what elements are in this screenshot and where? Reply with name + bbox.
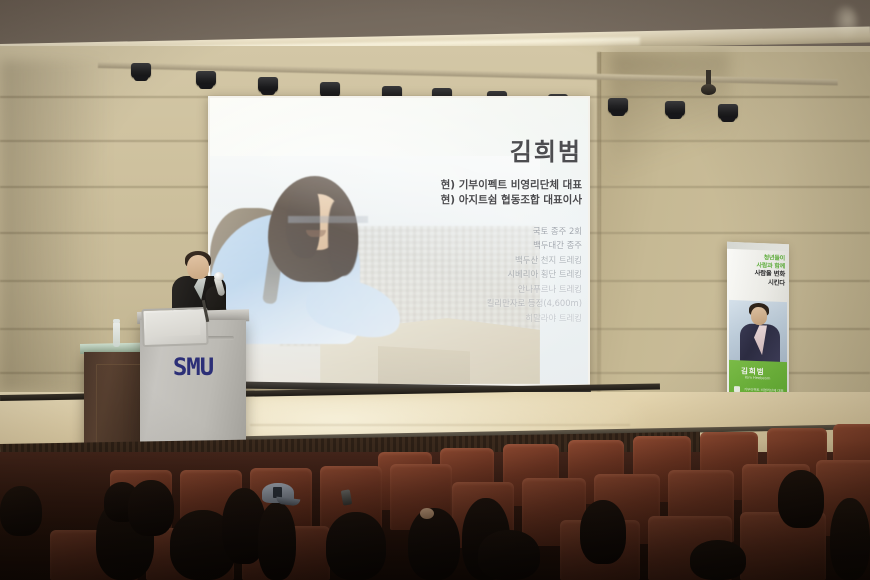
slide-achievement: 시베리아 횡단 트레킹 — [386, 267, 582, 281]
microphone-head-icon — [214, 272, 224, 281]
stage-light-icon — [131, 63, 151, 78]
water-bottle[interactable] — [113, 322, 120, 347]
wall-corner — [597, 52, 601, 397]
slide-achievement: 국토 종주 2회 — [386, 224, 582, 238]
stage-light-icon — [665, 101, 685, 116]
lectern-logo: SMU — [140, 353, 246, 381]
presenter-head — [187, 255, 209, 279]
banner-portrait — [729, 300, 787, 364]
slide-achievement-list: 국토 종주 2회 백두대간 종주 백두산 천지 트레킹 시베리아 횡단 트레킹 … — [386, 224, 582, 325]
stage-light-icon — [608, 98, 628, 113]
banner-portrait-face — [751, 307, 767, 326]
slide-achievement: 백두대간 종주 — [386, 238, 582, 252]
house-shadow-overlay — [0, 440, 870, 580]
water-bottle-cap — [113, 319, 120, 323]
slide-achievement: 히말라야 트레킹 — [386, 311, 582, 325]
slide-achievement: 백두산 천지 트레킹 — [386, 253, 582, 267]
stage-light-icon — [258, 77, 278, 92]
slide-roles: 현) 기부이펙트 비영리단체 대표 현) 아지트쉼 협동조합 대표이사 — [386, 178, 582, 208]
ceiling-highlight — [832, 6, 858, 40]
slide-role-line: 현) 아지트쉼 협동조합 대표이사 — [386, 193, 582, 208]
floor-grain — [250, 424, 630, 426]
banner-title: 청년들이 사람과 함께 사람을 변화 시킨다 — [733, 253, 785, 287]
slide-achievement: 안나푸르나 트레킹 — [386, 282, 582, 296]
banner-speaker-subtitle: Kim Heebeom — [745, 376, 770, 381]
slide-title: 김희범 — [386, 140, 582, 164]
stage-light-icon — [196, 71, 216, 86]
banner-header-strip — [727, 242, 789, 251]
auditorium-scene: 김희범 현) 기부이펙트 비영리단체 대표 현) 아지트쉼 협동조합 대표이사 … — [0, 0, 870, 580]
wall-shadow — [0, 60, 110, 390]
confidence-monitor-screen — [146, 311, 201, 337]
slide-role-line: 현) 기부이펙트 비영리단체 대표 — [386, 178, 582, 193]
stage-light-icon — [718, 104, 738, 119]
slide-text-block: 김희범 현) 기부이펙트 비영리단체 대표 현) 아지트쉼 협동조합 대표이사 … — [386, 140, 582, 325]
stage-light-icon — [320, 82, 340, 97]
projection-screen: 김희범 현) 기부이펙트 비영리단체 대표 현) 아지트쉼 협동조합 대표이사 … — [210, 98, 588, 384]
pendant-light-icon — [701, 84, 716, 95]
banner-title-line: 시킨다 — [733, 277, 785, 287]
slide-achievement: 킬리만자로 등정(4,600m) — [386, 296, 582, 310]
